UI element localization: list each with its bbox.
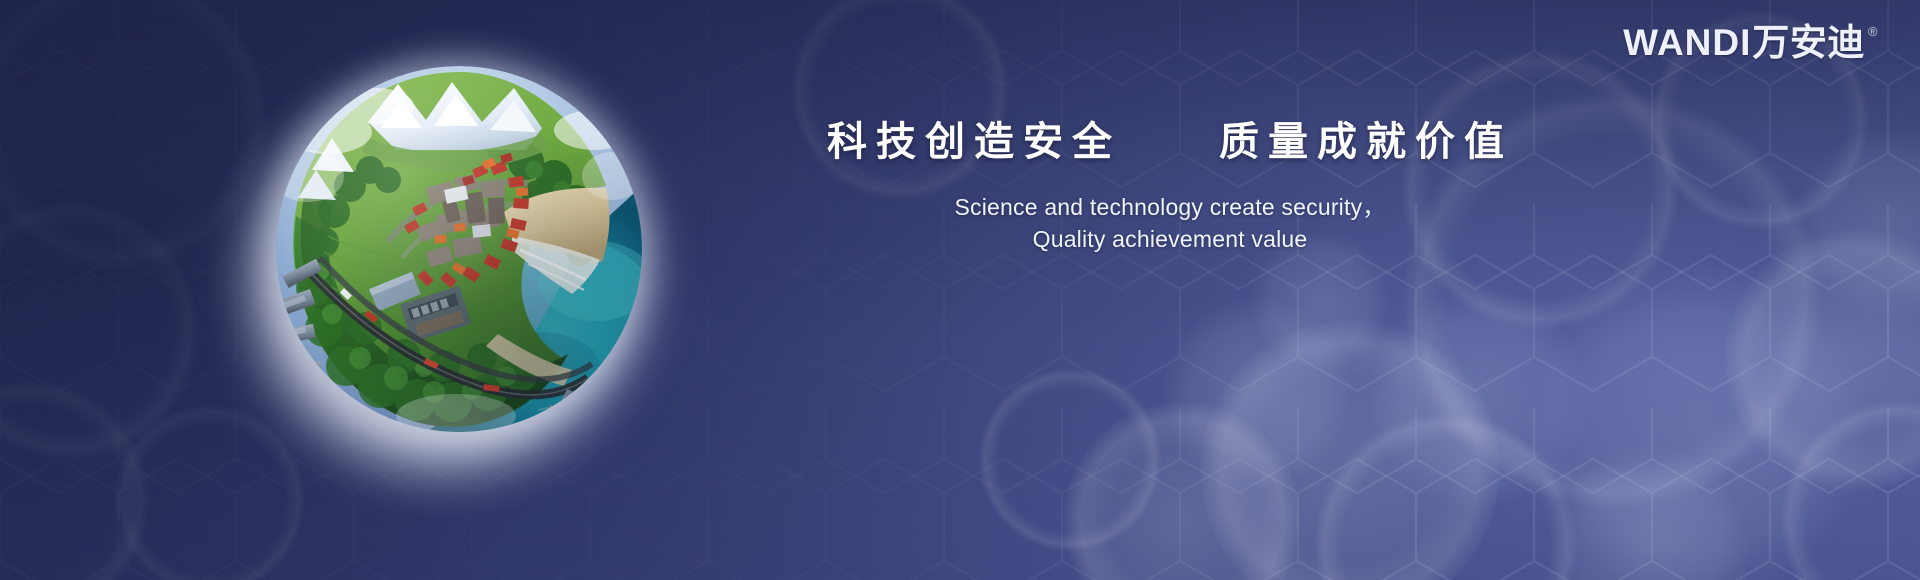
subtitle-line-1: Science and technology create security， xyxy=(760,191,1580,224)
headline-chinese: 科技创造安全 质量成就价值 xyxy=(760,120,1580,165)
brand-logo[interactable]: WANDI 万安迪 ® xyxy=(1623,24,1878,61)
globe-illustration xyxy=(196,14,716,534)
registered-trademark-icon: ® xyxy=(1868,25,1878,38)
subtitle-english: Science and technology create security， … xyxy=(760,191,1580,256)
subtitle-line-2: Quality achievement value xyxy=(760,223,1580,256)
logo-chinese-text: 万安迪 xyxy=(1752,24,1865,61)
logo-latin-text: WANDI xyxy=(1623,24,1751,61)
slogan-block: 科技创造安全 质量成就价值 Science and technology cre… xyxy=(760,120,1580,256)
tiny-planet-sphere xyxy=(276,66,642,432)
tiny-planet-artwork xyxy=(276,66,642,432)
promo-banner: WANDI 万安迪 ® 科技创造安全 质量成就价值 Science and te… xyxy=(0,0,1920,580)
